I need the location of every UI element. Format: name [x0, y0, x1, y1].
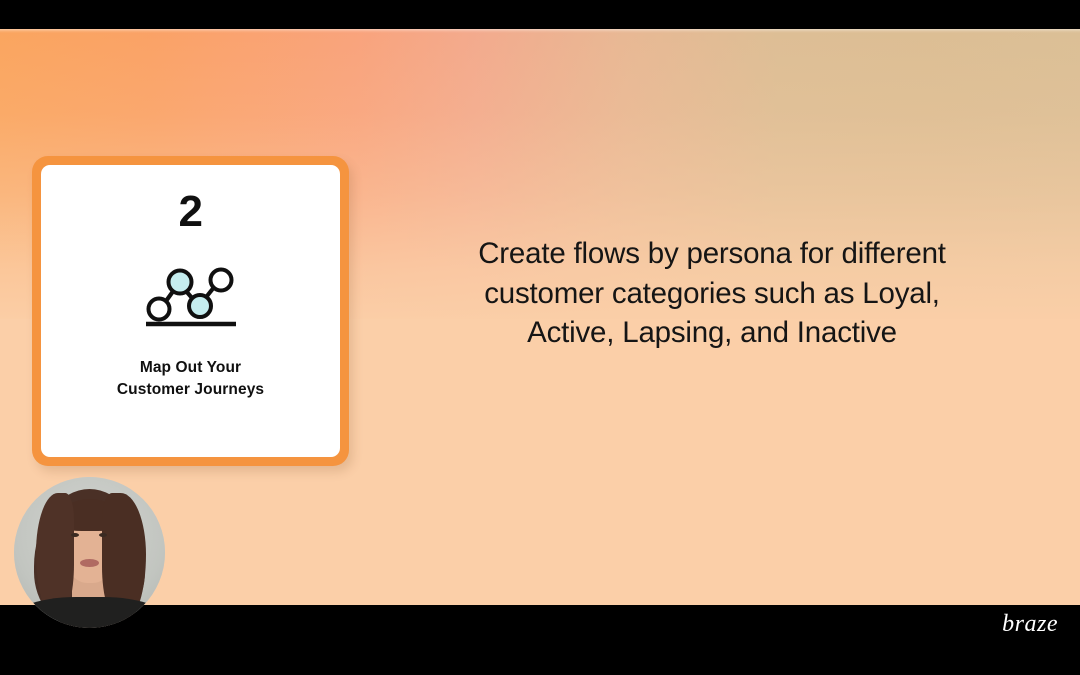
presenter-eye-right	[99, 533, 107, 537]
video-player-stage: 2	[0, 0, 1080, 675]
presenter-webcam-bubble[interactable]	[14, 477, 165, 628]
presenter-eye-left	[71, 533, 79, 537]
step-card-title-line-2: Customer Journeys	[117, 381, 264, 398]
step-card: 2	[32, 156, 349, 466]
slide-body-copy: Create flows by persona for different cu…	[398, 234, 1026, 353]
letterbox-top-bar	[0, 0, 1080, 29]
braze-logo: braze	[1002, 612, 1058, 636]
step-card-title: Map Out Your Customer Journeys	[117, 357, 264, 402]
step-card-inner: 2	[41, 165, 340, 457]
body-copy-line-1: Create flows by persona for different	[478, 237, 946, 270]
step-card-title-line-1: Map Out Your	[140, 359, 241, 376]
body-copy-line-3: Active, Lapsing, and Inactive	[527, 316, 897, 349]
presenter-shirt	[14, 597, 165, 628]
customer-journey-nodes-icon	[141, 261, 241, 329]
slide-top-seam	[0, 29, 1080, 33]
body-copy-line-2: customer categories such as Loyal,	[484, 277, 940, 310]
presenter-mouth	[80, 559, 99, 567]
step-number: 2	[179, 190, 203, 234]
